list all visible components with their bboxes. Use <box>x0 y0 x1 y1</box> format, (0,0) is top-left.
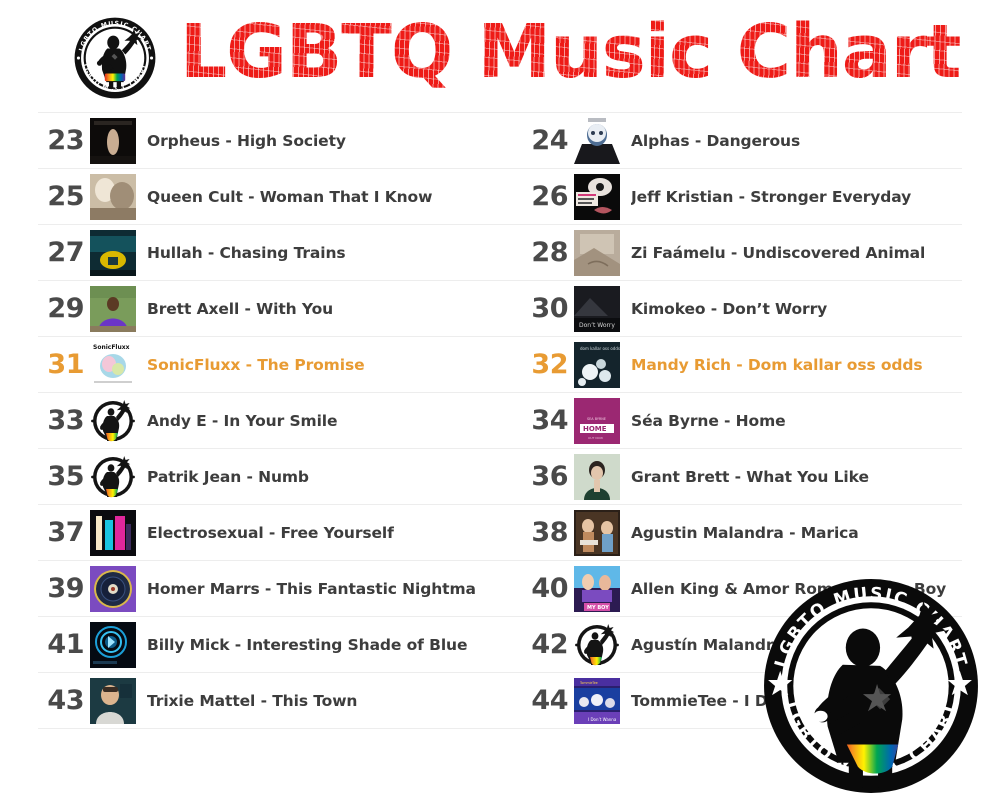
page-title: LGBTQ Music Chart <box>180 15 961 89</box>
chart-entry-title[interactable]: Grant Brett - What You Like <box>631 467 869 487</box>
album-art-thumbnail[interactable] <box>90 174 136 220</box>
chart-entry-title[interactable]: Andy E - In Your Smile <box>147 411 337 431</box>
chart-rank: 36 <box>522 463 568 490</box>
chart-rank: 43 <box>38 687 84 714</box>
svg-text:TommieTee: TommieTee <box>579 681 598 685</box>
chart-rank: 29 <box>38 295 84 322</box>
chart-rank: 23 <box>38 127 84 154</box>
page-header: LGBTQ MUSIC CHART LGBTQ MUSIC CHART L <box>0 0 1000 112</box>
chart-row[interactable]: 29Brett Axell - With You30Don’t WorryKim… <box>38 281 962 337</box>
svg-text:dom kallar oss odds: dom kallar oss odds <box>580 346 620 351</box>
album-art-thumbnail[interactable]: Don’t Worry <box>574 286 620 332</box>
chart-row[interactable]: 35Patrik Jean - Numb36Grant Brett - What… <box>38 449 962 505</box>
chart-entry-title[interactable]: TommieTee - I Don’t Wanna <box>631 691 867 711</box>
music-chart-list: 23Orpheus - High Society24Alphas - Dange… <box>38 112 962 729</box>
chart-rank: 33 <box>38 407 84 434</box>
album-art-thumbnail[interactable] <box>574 622 620 668</box>
chart-entry[interactable]: 26Jeff Kristian - Stronger Everyday <box>500 169 962 224</box>
chart-entry[interactable]: 36Grant Brett - What You Like <box>500 449 962 504</box>
chart-rank: 30 <box>522 295 568 322</box>
chart-rank: 42 <box>522 631 568 658</box>
chart-entry[interactable]: 37Electrosexual - Free Yourself <box>38 505 500 560</box>
lgbtq-music-chart-logo-icon: LGBTQ MUSIC CHART LGBTQ MUSIC CHART <box>72 15 158 101</box>
chart-entry-title[interactable]: Billy Mick - Interesting Shade of Blue <box>147 635 467 655</box>
chart-row[interactable]: 23Orpheus - High Society24Alphas - Dange… <box>38 112 962 169</box>
chart-entry-title[interactable]: Trixie Mattel - This Town <box>147 691 357 711</box>
chart-entry[interactable]: 43Trixie Mattel - This Town <box>38 673 500 728</box>
album-art-thumbnail[interactable]: MY BOY <box>574 566 620 612</box>
svg-text:MY BOY: MY BOY <box>587 605 609 611</box>
album-art-thumbnail[interactable] <box>574 454 620 500</box>
album-art-thumbnail[interactable]: SEA BYRNEHOMEOUT NOW <box>574 398 620 444</box>
chart-entry[interactable]: 23Orpheus - High Society <box>38 113 500 168</box>
chart-entry[interactable]: 29Brett Axell - With You <box>38 281 500 336</box>
chart-rank: 35 <box>38 463 84 490</box>
chart-entry-title[interactable]: Hullah - Chasing Trains <box>147 243 346 263</box>
svg-text:SEA BYRNE: SEA BYRNE <box>587 417 606 421</box>
chart-rank: 40 <box>522 575 568 602</box>
chart-row[interactable]: 31SonicFluxxSonicFluxx - The Promise32do… <box>38 337 962 393</box>
album-art-thumbnail[interactable] <box>90 678 136 724</box>
album-art-thumbnail[interactable] <box>90 454 136 500</box>
album-art-thumbnail[interactable] <box>574 174 620 220</box>
album-art-thumbnail[interactable] <box>90 230 136 276</box>
album-art-thumbnail[interactable]: TommieTeeI Don’t Wanna <box>574 678 620 724</box>
chart-entry[interactable]: 40MY BOYAllen King & Amor Romeira - My B… <box>500 561 962 616</box>
chart-entry[interactable]: 41Billy Mick - Interesting Shade of Blue <box>38 617 500 672</box>
album-art-thumbnail[interactable]: SonicFluxx <box>90 342 136 388</box>
chart-entry-title[interactable]: SonicFluxx - The Promise <box>147 355 364 375</box>
chart-entry-title[interactable]: Agustin Malandra - Marica <box>631 523 859 543</box>
chart-rank: 27 <box>38 239 84 266</box>
album-art-thumbnail[interactable] <box>90 566 136 612</box>
chart-entry-title[interactable]: Agustín Malandra - Todes Estamos Enferme… <box>631 635 962 655</box>
chart-entry[interactable]: 30Don’t WorryKimokeo - Don’t Worry <box>500 281 962 336</box>
album-art-thumbnail[interactable] <box>574 230 620 276</box>
chart-rank: 31 <box>38 351 84 378</box>
chart-entry[interactable]: 33Andy E - In Your Smile <box>38 393 500 448</box>
chart-entry[interactable]: 27Hullah - Chasing Trains <box>38 225 500 280</box>
album-art-thumbnail[interactable] <box>90 398 136 444</box>
chart-rank: 41 <box>38 631 84 658</box>
chart-entry-title[interactable]: Homer Marrs - This Fantastic Nightma <box>147 579 476 599</box>
chart-rank: 44 <box>522 687 568 714</box>
album-art-thumbnail[interactable] <box>574 118 620 164</box>
chart-rank: 28 <box>522 239 568 266</box>
album-art-thumbnail[interactable] <box>90 510 136 556</box>
chart-rank: 39 <box>38 575 84 602</box>
album-art-thumbnail[interactable] <box>90 286 136 332</box>
chart-entry-title[interactable]: Orpheus - High Society <box>147 131 346 151</box>
svg-text:Don’t Worry: Don’t Worry <box>579 322 615 329</box>
album-art-thumbnail[interactable]: dom kallar oss odds <box>574 342 620 388</box>
chart-entry[interactable]: 42Agustín Malandra - Todes Estamos Enfer… <box>500 617 962 672</box>
chart-rank: 32 <box>522 351 568 378</box>
chart-row[interactable]: 27Hullah - Chasing Trains28Zi Faámelu - … <box>38 225 962 281</box>
chart-row[interactable]: 25Queen Cult - Woman That I Know26Jeff K… <box>38 169 962 225</box>
chart-entry[interactable]: 35Patrik Jean - Numb <box>38 449 500 504</box>
chart-entry-title[interactable]: Zi Faámelu - Undiscovered Animal <box>631 243 925 263</box>
chart-entry-title[interactable]: Kimokeo - Don’t Worry <box>631 299 827 319</box>
chart-entry-title[interactable]: Patrik Jean - Numb <box>147 467 309 487</box>
chart-entry[interactable]: 31SonicFluxxSonicFluxx - The Promise <box>38 337 500 392</box>
chart-entry-title[interactable]: Séa Byrne - Home <box>631 411 786 431</box>
chart-row[interactable]: 37Electrosexual - Free Yourself38Agustin… <box>38 505 962 561</box>
chart-row[interactable]: 41Billy Mick - Interesting Shade of Blue… <box>38 617 962 673</box>
album-art-thumbnail[interactable] <box>90 118 136 164</box>
svg-text:SonicFluxx: SonicFluxx <box>93 344 130 351</box>
svg-text:OUT NOW: OUT NOW <box>588 436 603 440</box>
album-art-thumbnail[interactable] <box>574 510 620 556</box>
chart-rank: 37 <box>38 519 84 546</box>
chart-rank: 25 <box>38 183 84 210</box>
chart-rank: 26 <box>522 183 568 210</box>
album-art-thumbnail[interactable] <box>90 622 136 668</box>
svg-text:I Don’t Wanna: I Don’t Wanna <box>588 717 617 722</box>
chart-row[interactable]: 43Trixie Mattel - This Town44TommieTeeI … <box>38 673 962 729</box>
chart-row[interactable]: 39Homer Marrs - This Fantastic Nightma40… <box>38 561 962 617</box>
chart-entry-title[interactable]: Mandy Rich - Dom kallar oss odds <box>631 355 923 375</box>
chart-rank: 34 <box>522 407 568 434</box>
chart-entry[interactable]: 25Queen Cult - Woman That I Know <box>38 169 500 224</box>
chart-row[interactable]: 33Andy E - In Your Smile34SEA BYRNEHOMEO… <box>38 393 962 449</box>
chart-entry[interactable]: 38Agustin Malandra - Marica <box>500 505 962 560</box>
chart-entry-title[interactable]: Queen Cult - Woman That I Know <box>147 187 432 207</box>
chart-entry-title[interactable]: Alphas - Dangerous <box>631 131 800 151</box>
chart-entry[interactable]: 28Zi Faámelu - Undiscovered Animal <box>500 225 962 280</box>
chart-entry[interactable]: 44TommieTeeI Don’t WannaTommieTee - I Do… <box>500 673 962 728</box>
chart-entry[interactable]: 34SEA BYRNEHOMEOUT NOWSéa Byrne - Home <box>500 393 962 448</box>
chart-entry-title[interactable]: Jeff Kristian - Stronger Everyday <box>631 187 911 207</box>
chart-rank: 38 <box>522 519 568 546</box>
chart-entry-title[interactable]: Allen King & Amor Romeira - My Boy <box>631 579 946 599</box>
svg-text:HOME: HOME <box>583 425 607 433</box>
chart-entry[interactable]: 24Alphas - Dangerous <box>500 113 962 168</box>
chart-entry[interactable]: 32dom kallar oss oddsMandy Rich - Dom ka… <box>500 337 962 392</box>
chart-entry[interactable]: 39Homer Marrs - This Fantastic Nightma <box>38 561 500 616</box>
chart-rank: 24 <box>522 127 568 154</box>
chart-entry-title[interactable]: Electrosexual - Free Yourself <box>147 523 394 543</box>
chart-entry-title[interactable]: Brett Axell - With You <box>147 299 333 319</box>
